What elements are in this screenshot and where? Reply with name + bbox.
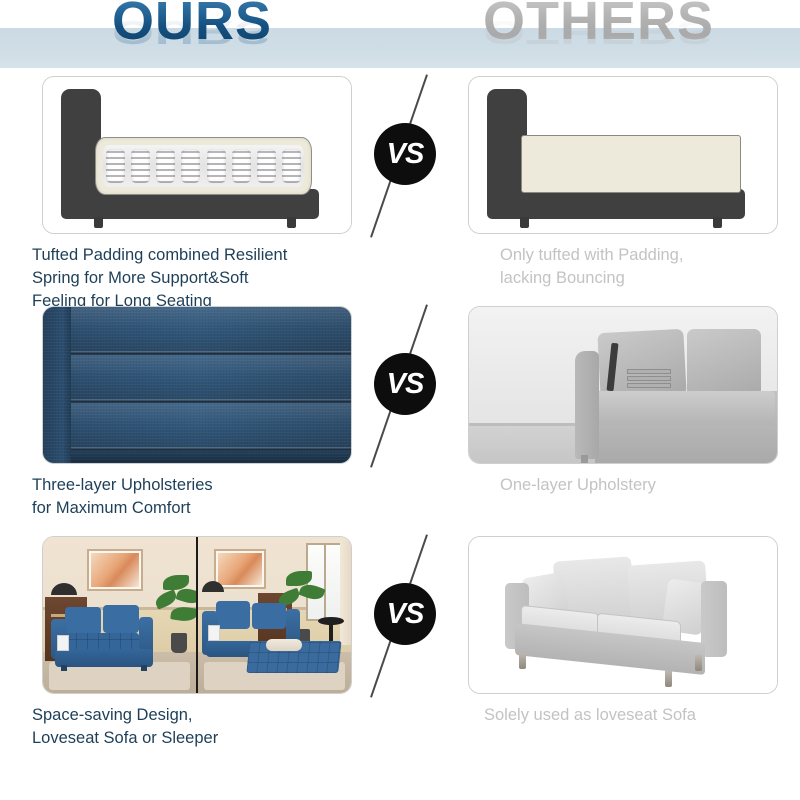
book	[627, 383, 671, 388]
row-1-media: VS	[0, 68, 800, 240]
bed-leg-left	[94, 217, 103, 228]
vs-badge-2: VS	[374, 353, 436, 415]
sofa-leg	[141, 665, 147, 671]
curtain	[340, 541, 351, 645]
wall-art-canvas	[91, 553, 139, 587]
spring-coil	[106, 149, 125, 183]
others-caption-3: Solely used as loveseat Sofa	[484, 704, 794, 727]
caption-line: Space-saving Design,	[32, 704, 382, 727]
spring-coil	[207, 149, 226, 183]
ours-caption-2: Three-layer Upholsteries for Maximum Com…	[32, 474, 382, 520]
comparison-row-1: VS Tufted Padding combined Resilient Spr…	[0, 68, 800, 298]
spring-coil	[232, 149, 251, 183]
caption-line: Solely used as loveseat Sofa	[484, 704, 794, 727]
caption-line: Only tufted with Padding,	[500, 244, 800, 267]
others-caption-1: Only tufted with Padding, lacking Bounci…	[500, 244, 800, 290]
mattress-plain-padding	[521, 135, 741, 193]
sofa-back-cushion	[103, 605, 139, 633]
ours-caption-3: Space-saving Design, Loveseat Sofa or Sl…	[32, 704, 382, 750]
book	[627, 376, 671, 381]
caption-line: One-layer Upholstery	[500, 474, 800, 497]
book	[627, 369, 671, 374]
gray-one-layer-sofa-room-photo	[469, 307, 777, 463]
bed-leg-right	[287, 217, 296, 228]
spring-coil	[282, 149, 301, 183]
spring-coil-window	[103, 145, 304, 187]
header-titles: OURS OURS OTHERS OTHERS	[0, 0, 800, 68]
scene-sleeper-mode	[196, 537, 351, 693]
comparison-header: OURS OURS OTHERS OTHERS	[0, 0, 800, 68]
ours-title-reflection: OURS	[112, 16, 272, 49]
sofa-leg-front-right	[665, 671, 672, 687]
comparison-row-2: VS	[0, 298, 800, 528]
window-mullion	[324, 545, 326, 619]
caption-line: lacking Bouncing	[500, 267, 800, 290]
sofa-leg	[61, 665, 67, 671]
sofa-seat-cushion	[597, 391, 775, 425]
fabric-weave-texture	[43, 307, 351, 463]
bed-base	[487, 189, 745, 219]
sofa-back-cushion	[687, 329, 761, 397]
plant-pot	[171, 633, 187, 653]
vs-label: VS	[387, 140, 424, 169]
spring-coil	[156, 149, 175, 183]
bed-leg-right	[713, 217, 722, 228]
stack-of-books	[627, 369, 671, 391]
folded-blanket	[266, 639, 302, 651]
sofa-leg-front-left	[519, 653, 526, 669]
vs-label: VS	[387, 600, 424, 629]
gray-loveseat-sofa-product-photo	[469, 537, 777, 693]
blue-loveseat-sleeper-convertible-scene	[43, 537, 351, 693]
bed-frame-plain-padding-cross-section	[469, 77, 777, 233]
product-tag	[208, 625, 220, 641]
vs-badge-1: VS	[374, 123, 436, 185]
sofa-armrest	[575, 351, 599, 459]
vs-badge-3: VS	[374, 583, 436, 645]
bed-leg-left	[520, 217, 529, 228]
sofa-back-cushion	[252, 603, 286, 629]
others-title-reflection: OTHERS	[483, 16, 714, 49]
row-2-media: VS	[0, 298, 800, 470]
others-caption-2: One-layer Upholstery	[500, 474, 800, 497]
caption-line: for Maximum Comfort	[32, 497, 382, 520]
sofa-back-cushion	[65, 607, 101, 635]
wall-art	[214, 549, 266, 589]
wall-art-canvas	[218, 553, 262, 585]
wall-art	[87, 549, 143, 591]
row-3-media: VS	[0, 528, 800, 700]
window	[306, 543, 344, 621]
product-tag	[57, 635, 69, 651]
sofa-back-cushion	[216, 601, 250, 629]
others-image-card-3	[468, 536, 778, 694]
others-image-card-1	[468, 76, 778, 234]
navy-three-layer-upholstery-closeup	[43, 307, 351, 463]
bed-frame-spring-cross-section	[43, 77, 351, 233]
ours-image-card-1	[42, 76, 352, 234]
ours-title-group: OURS OURS	[112, 0, 352, 68]
caption-line: Loveseat Sofa or Sleeper	[32, 727, 382, 750]
sofa-leg-back-right	[695, 655, 702, 671]
spring-coil	[131, 149, 150, 183]
mattress-with-springs	[95, 137, 312, 195]
vs-label: VS	[387, 370, 424, 399]
caption-line: Three-layer Upholsteries	[32, 474, 382, 497]
others-title-group: OTHERS OTHERS	[483, 0, 753, 68]
sofa-base	[55, 649, 153, 667]
comparison-rows: VS Tufted Padding combined Resilient Spr…	[0, 68, 800, 758]
others-image-card-2	[468, 306, 778, 464]
caption-line: Spring for More Support&Soft	[32, 267, 382, 290]
ours-image-card-3	[42, 536, 352, 694]
spring-coil	[181, 149, 200, 183]
ours-image-card-2	[42, 306, 352, 464]
spring-coil	[257, 149, 276, 183]
comparison-row-3: VS Space-sa	[0, 528, 800, 758]
sofa-leg	[581, 455, 588, 464]
scene-loveseat-mode	[43, 537, 196, 693]
caption-line: Tufted Padding combined Resilient	[32, 244, 382, 267]
